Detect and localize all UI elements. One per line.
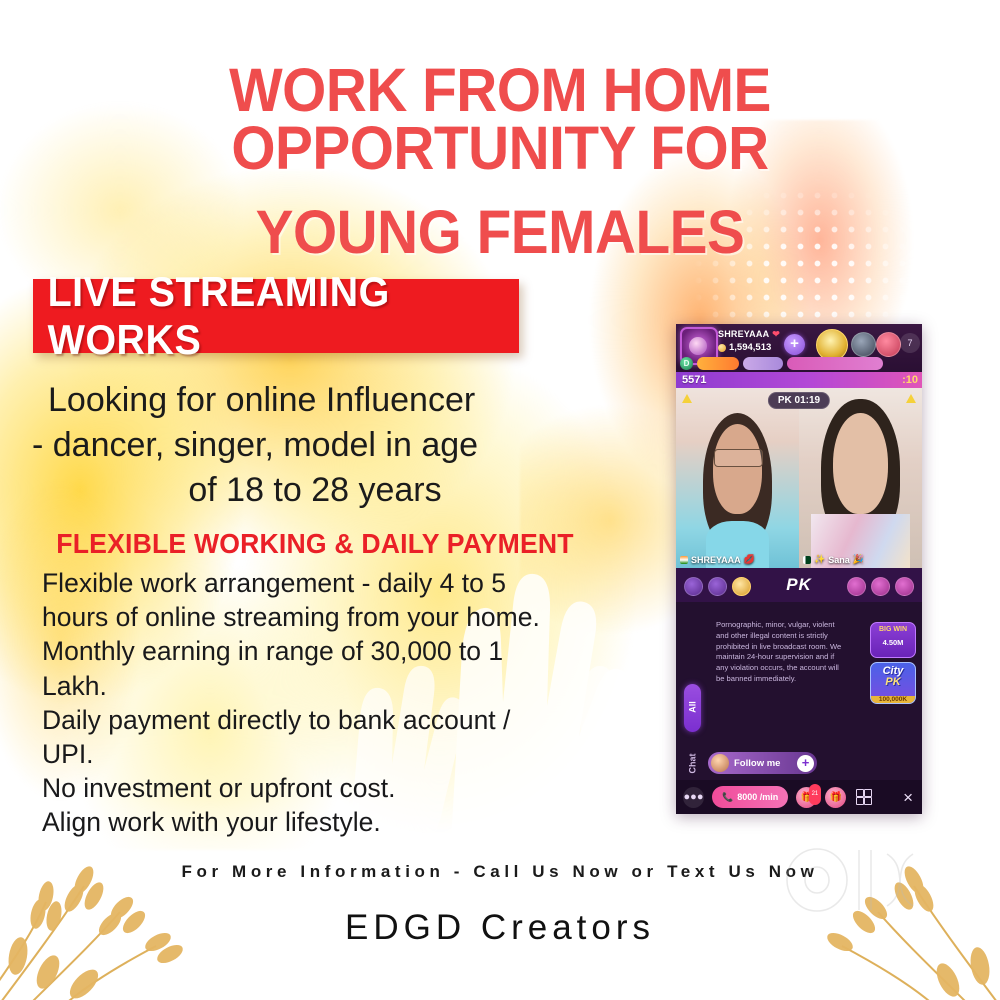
sparkle-icon: ✨ [814,554,825,565]
policy-notice: Pornographic, minor, vulgar, violent and… [716,620,846,685]
live-streaming-banner: LIVE STREAMING WORKS [33,279,519,353]
phone-icon: 📞 [722,792,733,803]
banner-label: LIVE STREAMING WORKS [48,268,505,364]
host-name-label: SHREYAAA [718,329,769,339]
olx-watermark [783,848,923,912]
lips-icon: 💋 [744,554,755,565]
body-line: Align work with your lifestyle. [42,805,642,839]
tab-chat-label: Chat [688,757,698,774]
gift-box-icon[interactable]: 🎁 [825,787,846,808]
streamer-nametag-right: ✨ Sana 🎉 [803,554,864,565]
body-line: No investment or upfront cost. [42,771,642,805]
city-pk-line-2: PK [871,677,915,688]
tag-pill-lilac[interactable] [743,357,783,370]
intro-line-3: of 18 to 28 years [20,468,610,513]
plus-icon[interactable]: + [797,755,814,772]
stream-bottom-bar: ●●● 📞 8000 /min 🎁 21 🎁 × [676,780,922,814]
chat-bubble-icon[interactable]: ●●● [683,787,704,808]
streamer-name-left: SHREYAAA [691,555,741,565]
pk-timer-badge: PK 01:19 [768,392,830,409]
pk-coin-icon[interactable] [732,577,751,596]
emoji-icon: 🎉 [853,554,864,565]
stream-top-bar: SHREYAAA❤ 1,594,513 + 7 D [676,324,922,373]
big-win-title: BIG WIN [871,626,915,633]
sub-heading: FLEXIBLE WORKING & DAILY PAYMENT [35,528,596,560]
call-rate-button[interactable]: 📞 8000 /min [712,786,788,808]
body-line: hours of online streaming from your home… [42,600,642,634]
viewer-avatar[interactable] [851,332,876,357]
pk-score-left: 5571 [676,374,706,386]
big-win-value: 4.50M [871,638,915,647]
intro-line-2: - dancer, singer, model in age [20,423,610,468]
flag-icon [680,556,688,564]
live-stream-screenshot: SHREYAAA❤ 1,594,513 + 7 D 5571 :10 [676,324,922,814]
follow-me-button[interactable]: Follow me + [708,752,817,774]
viewer-count-badge[interactable]: 7 [900,333,920,353]
gift-icon[interactable]: 🎁 21 [796,787,817,808]
call-rate-label: 8000 /min [737,792,778,802]
tab-all-label: All [688,699,698,716]
pk-video-grid: SHREYAAA 💋 ✨ Sana 🎉 PK 01:19 [676,388,922,568]
body-line: Flexible work arrangement - daily 4 to 5 [42,566,642,600]
follow-plus-button[interactable]: + [784,334,805,355]
brand-name: EDGD Creators [0,908,1000,948]
body-line: Lakh. [42,669,642,703]
tag-pill-pink[interactable] [787,357,883,370]
person-face [713,424,762,514]
big-win-badge[interactable]: BIG WIN 4.50M [870,622,916,658]
warning-icon [906,394,916,403]
grid-icon[interactable] [856,789,872,805]
pk-action-icon[interactable] [708,577,727,596]
body-line: Daily payment directly to bank account / [42,703,642,737]
intro-line-1: Looking for online Influencer [20,378,610,423]
streamer-nametag-left: SHREYAAA 💋 [680,554,755,565]
city-pk-value: 100,000K [871,696,915,703]
stream-tag-row: D [680,357,883,370]
pk-action-strip: PK [676,568,922,602]
city-pk-badge[interactable]: City PK 100,000K [870,662,916,704]
follow-me-label: Follow me [734,758,780,769]
gift-badge: 21 [809,784,822,805]
warning-icon [682,394,692,403]
pk-score-right: :10 [902,374,922,386]
page-title: WORK FROM HOME OPPORTUNITY FOR YOUNG FEM… [35,62,965,262]
pk-action-icon[interactable] [684,577,703,596]
pk-action-icon[interactable] [871,577,890,596]
coin-icon [718,344,726,352]
pk-progress-bar: 5571 :10 [676,372,922,388]
streamer-name-right: Sana [828,555,850,565]
body-line: UPI. [42,737,642,771]
pk-action-icon[interactable] [895,577,914,596]
tab-chat[interactable]: Chat [684,750,701,784]
body-text-block: Flexible work arrangement - daily 4 to 5… [42,566,642,839]
level-badge-icon: D [680,357,693,370]
pk-action-icon[interactable] [847,577,866,596]
intro-text: Looking for online Influencer - dancer, … [20,378,610,514]
tab-all[interactable]: All [684,684,701,732]
pk-strip-label: PK [786,575,812,595]
video-tile-left[interactable]: SHREYAAA 💋 [676,388,799,568]
glasses-icon [714,449,763,467]
heart-icon: ❤ [772,329,780,339]
tag-pill-orange[interactable] [697,357,739,370]
coin-count: 1,594,513 [729,342,771,353]
person-face [833,413,887,514]
video-tile-right[interactable]: ✨ Sana 🎉 [799,388,922,568]
coin-count-row: 1,594,513 [718,342,771,353]
body-line: Monthly earning in range of 30,000 to 1 [42,634,642,668]
headline-line-2: YOUNG FEMALES [35,204,965,262]
close-icon[interactable]: × [903,789,913,806]
headline-line-1: WORK FROM HOME OPPORTUNITY FOR [35,62,965,178]
follow-avatar [711,754,729,772]
poster-canvas: WORK FROM HOME OPPORTUNITY FOR YOUNG FEM… [0,0,1000,1000]
host-name: SHREYAAA❤ [718,329,780,340]
flag-icon [803,556,811,564]
viewer-avatar[interactable] [876,332,901,357]
